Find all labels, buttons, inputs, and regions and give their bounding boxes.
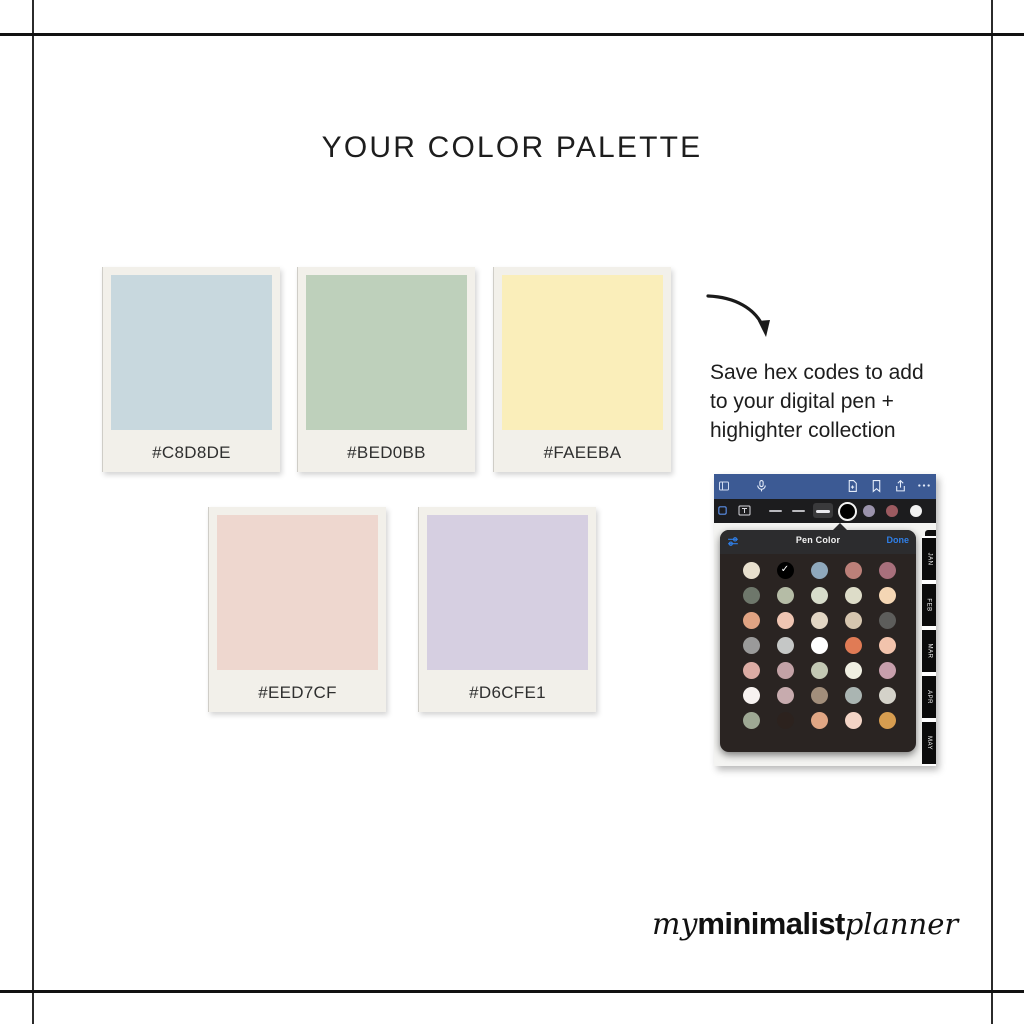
bookmark-icon[interactable] [870, 479, 883, 493]
poster-canvas: YOUR COLOR PALETTE #C8D8DE #BED0BB #FAEE… [0, 0, 1024, 1024]
pen-color-swatch[interactable] [845, 712, 862, 729]
pen-color-swatch[interactable] [879, 562, 896, 579]
month-tab-feb[interactable]: FEB [922, 582, 936, 628]
annotation-line-3: highighter collection [710, 416, 955, 445]
pen-color-swatch[interactable] [777, 637, 794, 654]
crop-mark-bottom [0, 990, 1024, 993]
pen-color-popover: Pen Color Done [720, 530, 916, 752]
hex-label: #BED0BB [298, 443, 475, 463]
color-dot-white[interactable] [910, 505, 922, 517]
pen-color-swatch[interactable] [845, 612, 862, 629]
pen-color-swatch[interactable] [811, 637, 828, 654]
share-icon[interactable] [894, 479, 907, 493]
stroke-width-thin[interactable] [769, 510, 782, 512]
pen-color-swatch[interactable] [879, 712, 896, 729]
pen-color-swatch[interactable] [879, 687, 896, 704]
page-title: YOUR COLOR PALETTE [0, 131, 1024, 165]
pen-color-swatch[interactable] [879, 612, 896, 629]
month-tab-may[interactable]: MAY [922, 720, 936, 766]
month-tab-label: FEB [926, 598, 932, 611]
stroke-width-thick-line [816, 510, 830, 513]
crop-mark-top [0, 33, 1024, 36]
pen-color-swatch[interactable] [743, 712, 760, 729]
month-tab-jan[interactable]: JAN [922, 536, 936, 582]
pen-color-swatch[interactable] [777, 562, 794, 579]
color-chip [306, 275, 467, 430]
swatch-card[interactable]: #EED7CF [208, 507, 386, 712]
pen-color-swatch[interactable] [811, 712, 828, 729]
swatch-card[interactable]: #FAEEBA [493, 267, 671, 472]
pen-color-swatch[interactable] [811, 612, 828, 629]
month-tab-label: MAY [926, 736, 932, 750]
pen-color-swatch[interactable] [845, 687, 862, 704]
annotation-line-2: to your digital pen + [710, 387, 955, 416]
pen-color-swatch[interactable] [811, 662, 828, 679]
page-add-icon[interactable] [846, 479, 859, 493]
month-tab-apr[interactable]: APR [922, 674, 936, 720]
color-chip [502, 275, 663, 430]
more-icon[interactable] [917, 483, 931, 488]
logo-part-minimalist: minimalist [697, 906, 844, 941]
stroke-width-medium[interactable] [792, 510, 805, 512]
pen-color-swatch[interactable] [879, 637, 896, 654]
popover-done-button[interactable]: Done [887, 535, 910, 545]
pen-color-swatch[interactable] [777, 612, 794, 629]
pen-color-swatch[interactable] [879, 662, 896, 679]
hex-label: #EED7CF [209, 683, 386, 703]
swatch-card[interactable]: #D6CFE1 [418, 507, 596, 712]
pen-color-swatch[interactable] [845, 662, 862, 679]
annotation-line-1: Save hex codes to add [710, 358, 955, 387]
swatch-card[interactable]: #BED0BB [297, 267, 475, 472]
app-screenshot: Pen Color Done JAN FEB MAR APR MAY [714, 474, 936, 766]
text-box-icon[interactable] [738, 505, 751, 516]
pen-color-swatch[interactable] [743, 562, 760, 579]
brand-logo: myminimalistplanner [652, 906, 942, 952]
pen-color-swatch[interactable] [879, 587, 896, 604]
pen-color-swatch[interactable] [845, 562, 862, 579]
color-dot-purple[interactable] [863, 505, 875, 517]
pen-color-swatch-grid [734, 562, 904, 729]
microphone-icon[interactable] [755, 479, 768, 493]
pen-color-swatch[interactable] [743, 612, 760, 629]
pen-color-swatch[interactable] [777, 662, 794, 679]
color-dot-maroon[interactable] [886, 505, 898, 517]
pen-color-swatch[interactable] [845, 587, 862, 604]
pen-color-swatch[interactable] [811, 562, 828, 579]
pen-color-swatch[interactable] [811, 587, 828, 604]
logo-part-my: my [652, 907, 697, 942]
hex-label: #C8D8DE [103, 443, 280, 463]
month-tab-label: APR [926, 690, 932, 704]
month-tab-label: MAR [926, 644, 932, 659]
pen-color-swatch[interactable] [811, 687, 828, 704]
sidebar-icon[interactable] [718, 480, 730, 492]
hex-label: #D6CFE1 [419, 683, 596, 703]
pen-color-swatch[interactable] [743, 687, 760, 704]
pen-color-swatch[interactable] [743, 637, 760, 654]
pen-color-swatch[interactable] [777, 587, 794, 604]
pen-color-swatch[interactable] [777, 712, 794, 729]
color-chip [217, 515, 378, 670]
curved-arrow-icon [700, 288, 790, 350]
pen-color-swatch[interactable] [743, 587, 760, 604]
month-tab-label: JAN [926, 553, 932, 566]
pen-color-swatch[interactable] [845, 637, 862, 654]
color-chip [111, 275, 272, 430]
color-chip [427, 515, 588, 670]
color-dot-selected[interactable] [838, 502, 857, 521]
pen-color-swatch[interactable] [743, 662, 760, 679]
month-tab-mar[interactable]: MAR [922, 628, 936, 674]
logo-part-planner: planner [845, 907, 959, 941]
hex-label: #FAEEBA [494, 443, 671, 463]
marker-icon[interactable] [717, 505, 728, 516]
swatch-card[interactable]: #C8D8DE [102, 267, 280, 472]
pen-color-swatch[interactable] [777, 687, 794, 704]
annotation-text: Save hex codes to add to your digital pe… [710, 358, 955, 445]
